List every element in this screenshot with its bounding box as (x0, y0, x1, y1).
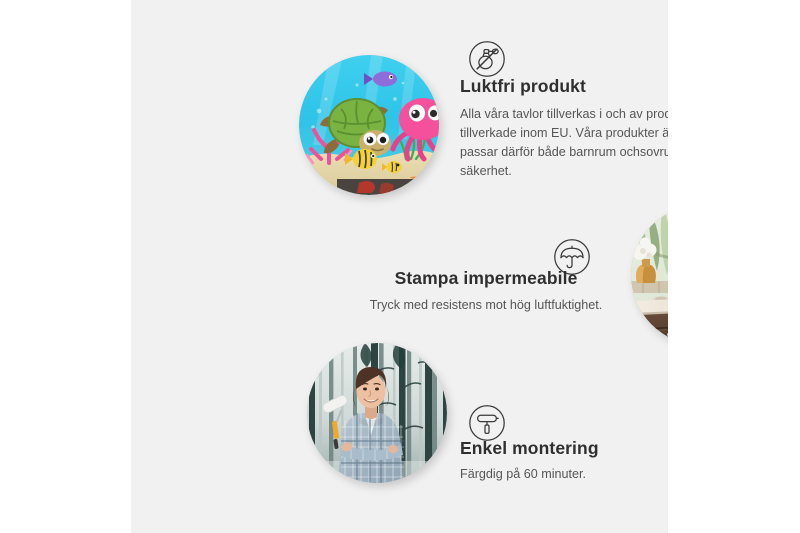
feature-odourless-body: Alla våra tavlor tillverkas i och av pro… (460, 105, 668, 182)
feature-odourless-title: Luktfri produkt (460, 76, 668, 98)
feature-panel: Luktfri produkt Alla våra tavlor tillver… (131, 0, 668, 533)
underwater-cartoon-mural-disc[interactable] (299, 55, 439, 195)
feature-waterproof-text: Stampa impermeabile Tryck med resistens … (341, 268, 631, 315)
feature-waterproof-body: Tryck med resistens mot hög luftfuktighe… (341, 296, 631, 315)
feature-waterproof-title: Stampa impermeabile (341, 268, 631, 290)
feature-easy-mounting-title: Enkel montering (460, 438, 668, 460)
feature-odourless-text: Luktfri produkt Alla våra tavlor tillver… (460, 76, 668, 181)
screenshot-root: Luktfri produkt Alla våra tavlor tillver… (0, 0, 800, 533)
paint-roller-icon (468, 404, 506, 442)
feature-easy-mounting-text: Enkel montering Färgdig på 60 minuter. (460, 438, 668, 484)
no-fragrance-icon (468, 40, 506, 78)
bathroom-vanity-leaf-wallpaper-disc[interactable] (631, 205, 668, 345)
feature-easy-mounting-body: Färgdig på 60 minuter. (460, 465, 668, 484)
woman-forest-mural-art (307, 343, 447, 483)
woman-paint-roller-forest-disc[interactable] (307, 343, 447, 483)
bathroom-interior-art (631, 205, 668, 345)
underwater-scene-art (299, 55, 439, 195)
